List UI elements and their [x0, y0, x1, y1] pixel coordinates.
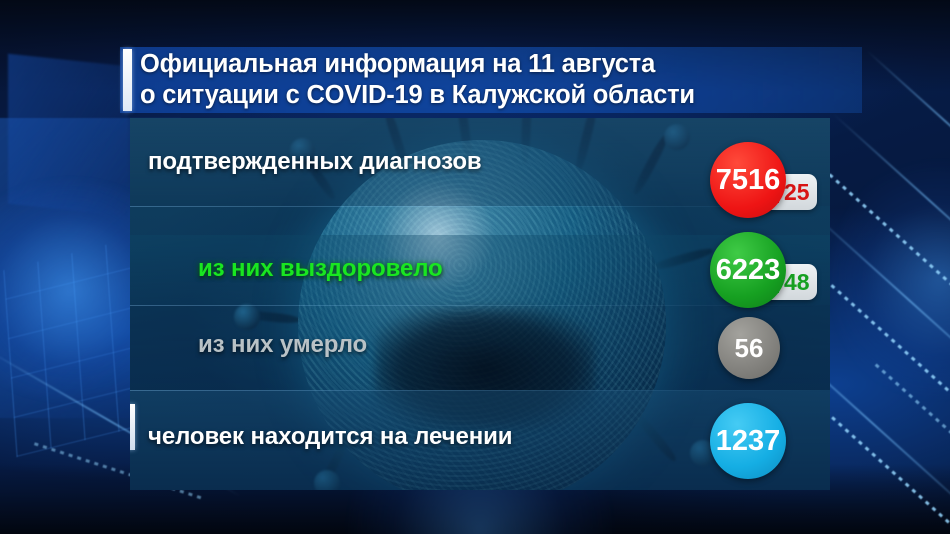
row-accent-bar [130, 404, 135, 450]
stat-value-recovered: 6223 [710, 232, 786, 308]
stat-label-recovered: из них выздоровело [198, 255, 443, 283]
stats-panel: подтвержденных диагнозов из них выздоров… [130, 118, 830, 490]
title-accent-bar [123, 49, 132, 111]
delta-value-recovered: 48 [784, 271, 810, 294]
stat-label-confirmed: подтвержденных диагнозов [148, 148, 482, 176]
page-title: Официальная информация на 11 августа о с… [140, 49, 860, 111]
stat-value-confirmed: 7516 [710, 142, 786, 218]
stat-badge-active: 1237 [710, 403, 786, 479]
delta-value-confirmed: 25 [784, 181, 810, 204]
stat-label-deaths: из них умерло [198, 331, 367, 359]
stat-badge-confirmed: 25 7516 [710, 142, 786, 218]
stat-value-active: 1237 [710, 403, 786, 479]
stat-badge-recovered: 48 6223 [710, 232, 786, 308]
stat-label-active: человек находится на лечении [148, 423, 512, 451]
stat-badge-deaths: 56 [718, 317, 780, 379]
row-divider [130, 390, 830, 391]
stat-value-deaths: 56 [718, 317, 780, 379]
